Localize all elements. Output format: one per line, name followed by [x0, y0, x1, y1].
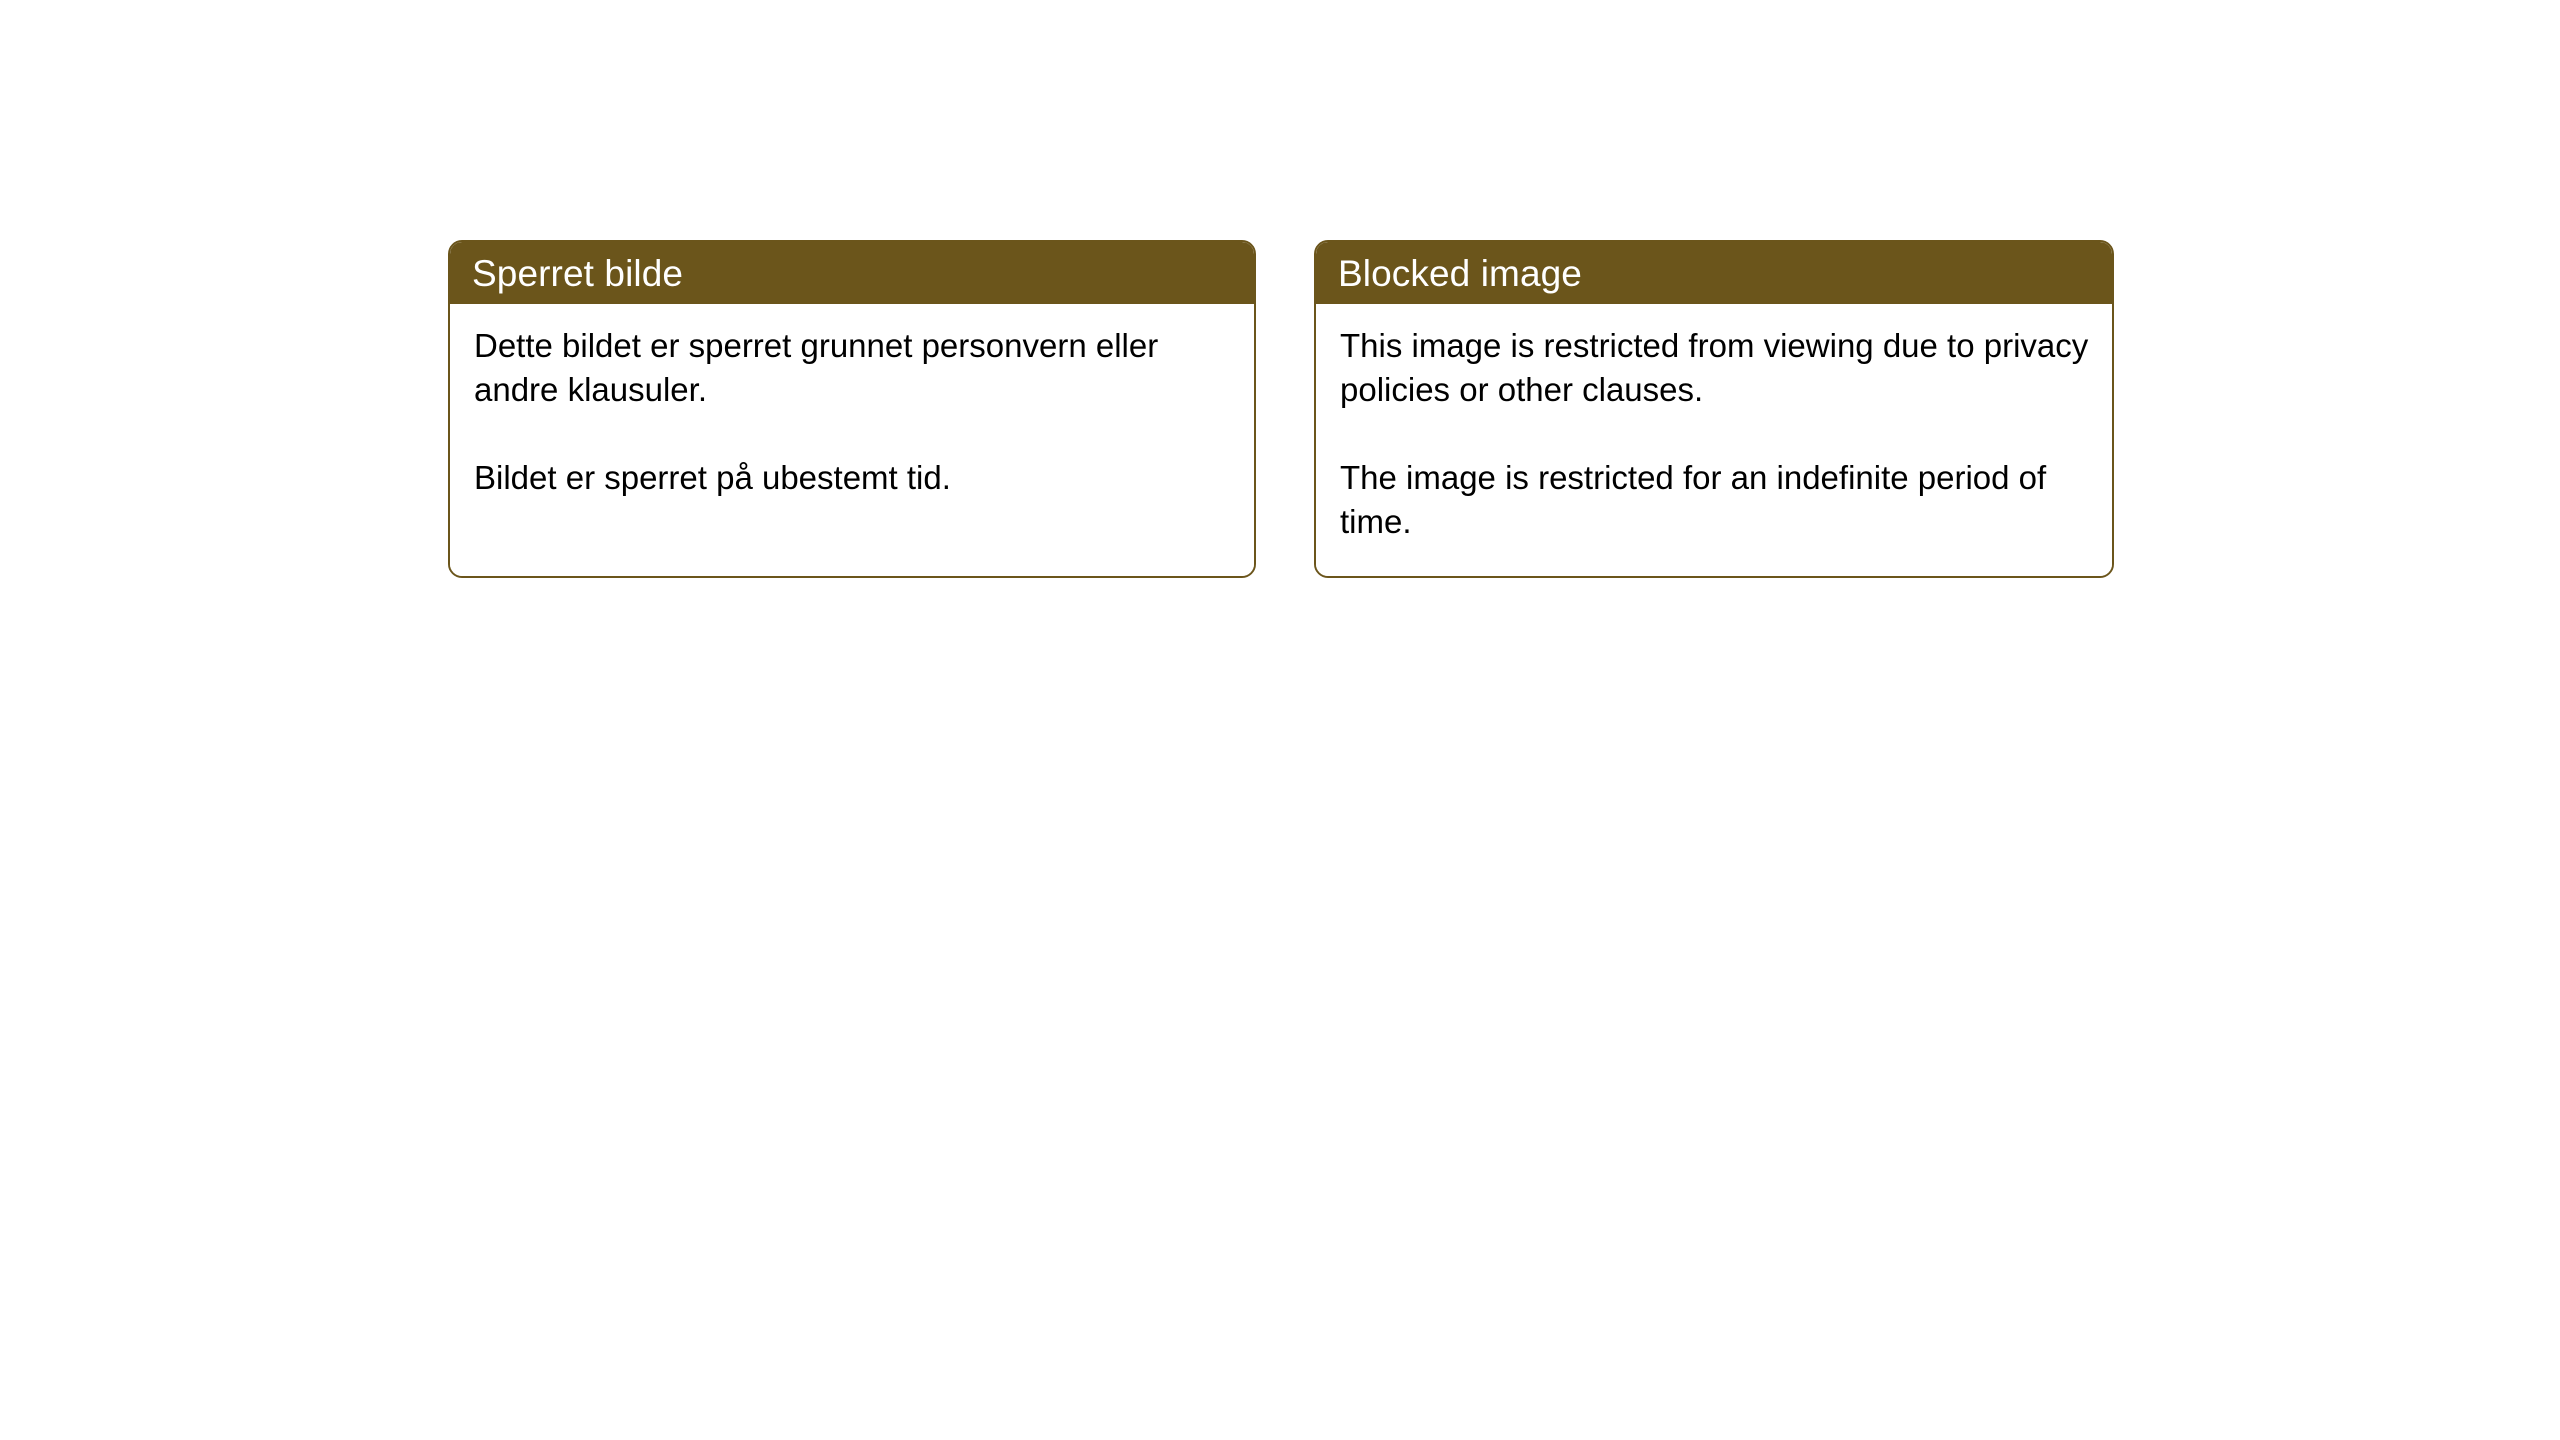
- paragraph-spacer: [1340, 412, 2090, 456]
- paragraph-spacer: [474, 412, 1232, 456]
- card-header-norwegian: Sperret bilde: [450, 242, 1254, 304]
- page-canvas: Sperret bilde Dette bildet er sperret gr…: [0, 0, 2560, 1440]
- card-paragraph-english-2: The image is restricted for an indefinit…: [1340, 456, 2090, 544]
- card-header-english: Blocked image: [1316, 242, 2112, 304]
- card-title-english: Blocked image: [1338, 255, 1582, 292]
- card-body-english: This image is restricted from viewing du…: [1316, 304, 2112, 576]
- card-paragraph-norwegian-1: Dette bildet er sperret grunnet personve…: [474, 324, 1232, 412]
- card-title-norwegian: Sperret bilde: [472, 255, 683, 292]
- card-body-norwegian: Dette bildet er sperret grunnet personve…: [450, 304, 1254, 576]
- card-paragraph-english-1: This image is restricted from viewing du…: [1340, 324, 2090, 412]
- blocked-image-card-norwegian: Sperret bilde Dette bildet er sperret gr…: [448, 240, 1256, 578]
- card-paragraph-norwegian-2: Bildet er sperret på ubestemt tid.: [474, 456, 1232, 500]
- blocked-image-notices: Sperret bilde Dette bildet er sperret gr…: [448, 240, 2114, 578]
- blocked-image-card-english: Blocked image This image is restricted f…: [1314, 240, 2114, 578]
